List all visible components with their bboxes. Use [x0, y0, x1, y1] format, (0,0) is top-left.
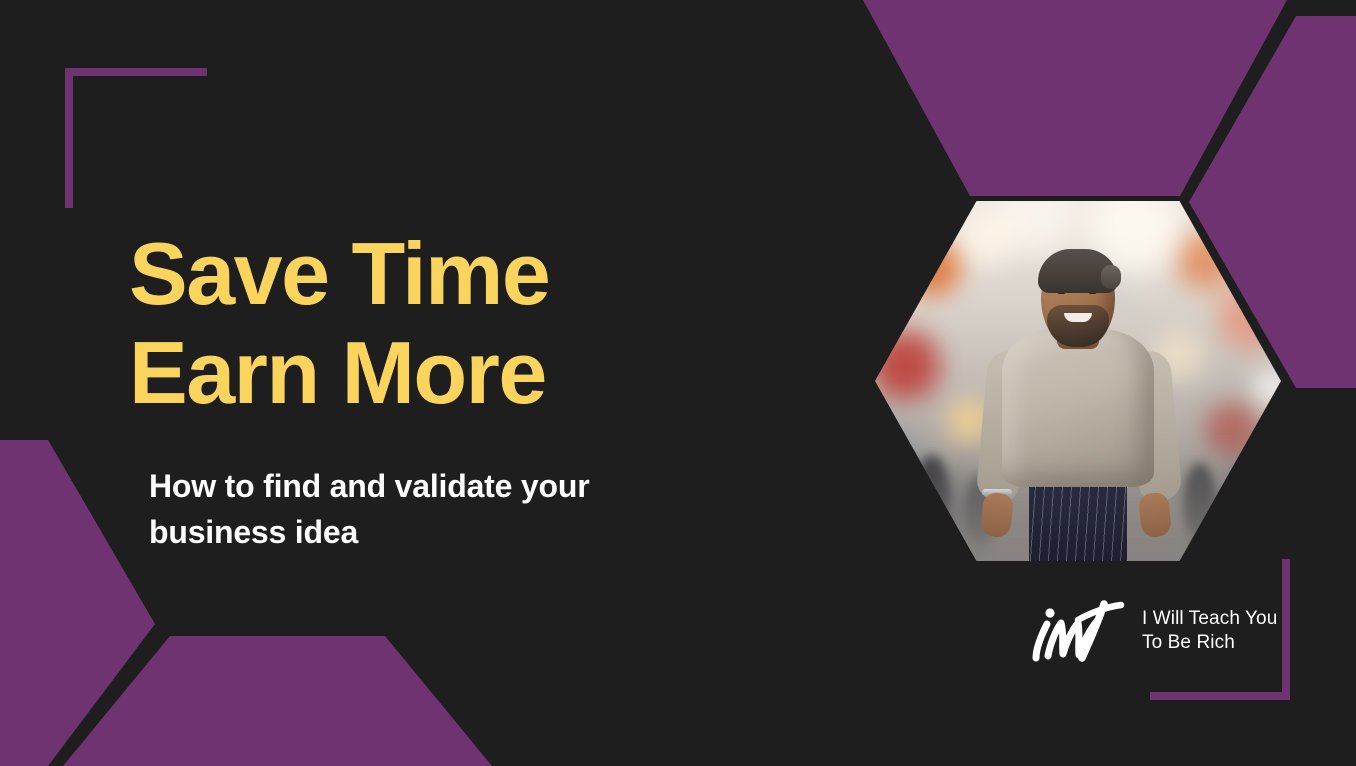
slide-subtitle: How to find and validate your business i…	[149, 464, 719, 555]
bracket-bar-vertical	[65, 68, 73, 208]
hex-top-purple	[863, 0, 1287, 196]
iwt-script-logo-icon	[1020, 596, 1132, 662]
person-left-hand	[980, 492, 1014, 539]
bracket-bar-horizontal	[1150, 692, 1290, 700]
corner-bracket-top-left	[65, 68, 207, 208]
person-figure	[875, 201, 1281, 561]
street-photo	[875, 201, 1281, 561]
brand-logo: I Will Teach You To Be Rich	[1020, 596, 1277, 662]
presentation-slide: Save Time Earn More How to find and vali…	[0, 0, 1356, 766]
person-hair	[1038, 249, 1118, 293]
logo-tagline: I Will Teach You To Be Rich	[1142, 603, 1277, 656]
headline-line-1: Save Time	[129, 225, 749, 324]
hex-bottom-purple	[63, 636, 492, 766]
portrait-photo-hexagon	[875, 201, 1281, 561]
headline-line-2: Earn More	[129, 324, 749, 423]
slide-text-block: Save Time Earn More How to find and vali…	[129, 225, 749, 555]
person-right-hand	[1138, 492, 1172, 539]
bracket-bar-vertical	[1282, 559, 1290, 700]
bracket-bar-horizontal	[65, 68, 207, 76]
